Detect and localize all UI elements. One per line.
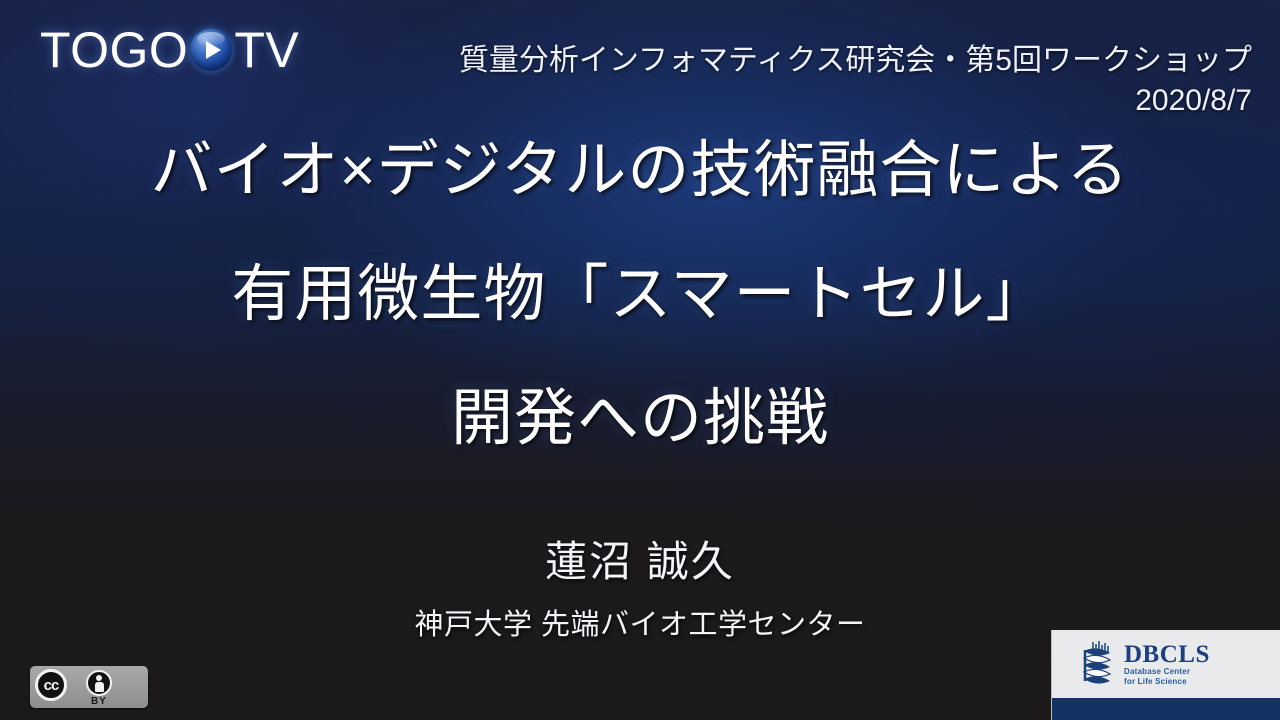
- person-head-shape: [96, 675, 102, 681]
- speaker-name: 蓮沼 誠久: [0, 538, 1280, 586]
- by-label: BY: [82, 696, 116, 707]
- brand-text-tv: TV: [234, 25, 299, 75]
- togotv-logo: TOGO TV: [40, 22, 299, 78]
- event-date: 2020/8/7: [352, 82, 1252, 120]
- creative-commons-by-badge[interactable]: cc BY: [30, 666, 148, 708]
- page-title: バイオ×デジタルの技術融合による 有用微生物「スマートセル」 開発への挑戦: [0, 140, 1280, 450]
- brand-text-togo: TOGO: [40, 25, 188, 75]
- cc-label: cc: [44, 678, 59, 693]
- dna-helix-icon: [1078, 641, 1116, 687]
- dbcls-logo: DBCLS Database Center for Life Science: [1052, 630, 1280, 698]
- play-triangle-icon: [206, 41, 221, 59]
- title-line-3: 開発への挑戦: [0, 388, 1280, 450]
- person-icon: [86, 670, 112, 696]
- creative-commons-icon: cc: [35, 669, 67, 701]
- dbcls-text-block: DBCLS Database Center for Life Science: [1124, 642, 1210, 687]
- dbcls-tagline-line2: for Life Science: [1124, 677, 1210, 687]
- play-icon: [190, 29, 232, 71]
- event-header: 質量分析インフォマティクス研究会・第5回ワークショップ 2020/8/7: [352, 44, 1252, 119]
- presentation-title-slide: TOGO TV 質量分析インフォマティクス研究会・第5回ワークショップ 2020…: [0, 0, 1280, 720]
- dbcls-tagline-line1: Database Center: [1124, 667, 1210, 677]
- title-line-1: バイオ×デジタルの技術融合による: [0, 140, 1280, 202]
- dbcls-name: DBCLS: [1124, 642, 1210, 667]
- title-line-2: 有用微生物「スマートセル」: [0, 264, 1280, 326]
- dbcls-logo-panel: DBCLS Database Center for Life Science: [1051, 630, 1280, 720]
- person-body-shape: [95, 682, 104, 692]
- event-name: 質量分析インフォマティクス研究会・第5回ワークショップ: [352, 44, 1252, 78]
- speaker-block: 蓮沼 誠久 神戸大学 先端バイオ工学センター: [0, 538, 1280, 643]
- dbcls-bottom-bar: [1052, 698, 1280, 720]
